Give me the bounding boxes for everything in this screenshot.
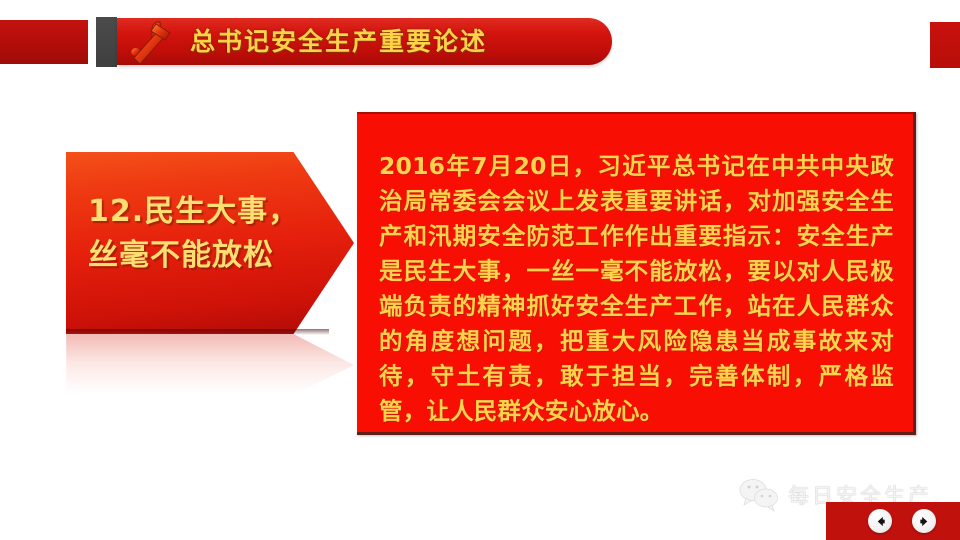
arrow-left-icon — [874, 515, 887, 528]
wechat-logo — [738, 478, 780, 512]
chevron-banner: 12.民生大事， 丝毫不能放松 — [66, 152, 354, 334]
chevron-banner-text: 12.民生大事， 丝毫不能放松 — [88, 190, 338, 278]
prev-button[interactable] — [868, 509, 892, 533]
nav-bar — [826, 502, 960, 540]
decor-block-top-right — [930, 22, 960, 68]
chevron-line-1: 12.民生大事， — [88, 190, 338, 234]
decor-tab-dark — [96, 17, 117, 67]
page-title: 总书记安全生产重要论述 — [190, 25, 610, 59]
chevron-line-2: 丝毫不能放松 — [88, 234, 338, 278]
arrow-right-icon — [918, 515, 931, 528]
next-button[interactable] — [912, 509, 936, 533]
chevron-reflection — [66, 334, 354, 408]
decor-block-top-left — [0, 20, 88, 64]
hammer-sickle-party-emblem — [120, 14, 178, 68]
quote-box: 2016年7月20日，习近平总书记在中共中央政治局常委会会议上发表重要讲话，对加… — [357, 112, 916, 435]
quote-text: 2016年7月20日，习近平总书记在中共中央政治局常委会会议上发表重要讲话，对加… — [379, 149, 894, 429]
